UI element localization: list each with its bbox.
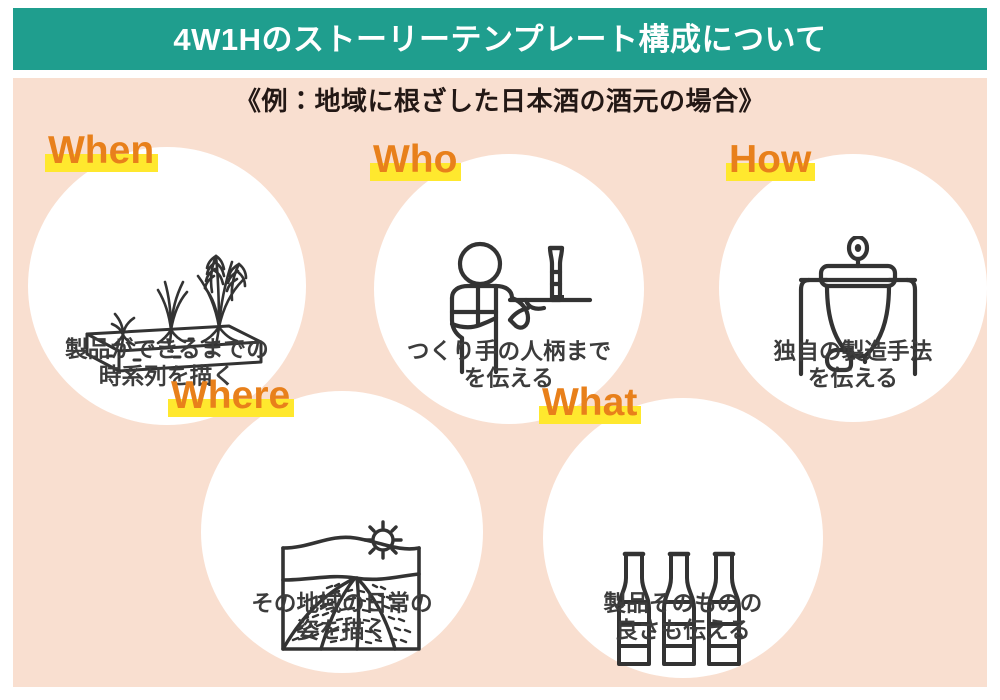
caption-what-line2: 良さも伝える — [543, 617, 823, 644]
caption-where-line1: その地域の日常の — [201, 590, 483, 617]
caption-who-line1: つくり手の人柄まで — [374, 338, 644, 365]
page-title: 4W1Hのストーリーテンプレート構成について — [173, 24, 826, 55]
caption-when-line1: 製品ができるまでの — [28, 336, 306, 363]
label-how: How — [726, 140, 815, 179]
label-when-text: When — [48, 129, 154, 172]
caption-what-line1: 製品そのものの — [543, 590, 823, 617]
label-how-text: How — [729, 138, 811, 181]
infographic-poster: 4W1Hのストーリーテンプレート構成について 《例：地域に根ざした日本酒の酒元の… — [0, 0, 1000, 700]
label-where-text: Where — [171, 374, 290, 417]
caption-how: 独自の製造手法 を伝える — [719, 338, 987, 393]
label-what: What — [539, 383, 641, 422]
label-what-text: What — [542, 381, 637, 424]
caption-how-line1: 独自の製造手法 — [719, 338, 987, 365]
subtitle: 《例：地域に根ざした日本酒の酒元の場合》 — [13, 87, 987, 116]
label-who: Who — [370, 140, 461, 179]
caption-where-line2: 姿を描く — [201, 617, 483, 644]
caption-where: その地域の日常の 姿を描く — [201, 590, 483, 645]
header-bar: 4W1Hのストーリーテンプレート構成について — [13, 8, 987, 70]
content-canvas: 《例：地域に根ざした日本酒の酒元の場合》 When — [13, 78, 987, 687]
caption-how-line2: を伝える — [719, 365, 987, 392]
label-when: When — [45, 131, 158, 170]
label-where: Where — [168, 376, 294, 415]
caption-what: 製品そのものの 良さも伝える — [543, 590, 823, 645]
label-who-text: Who — [373, 138, 457, 181]
